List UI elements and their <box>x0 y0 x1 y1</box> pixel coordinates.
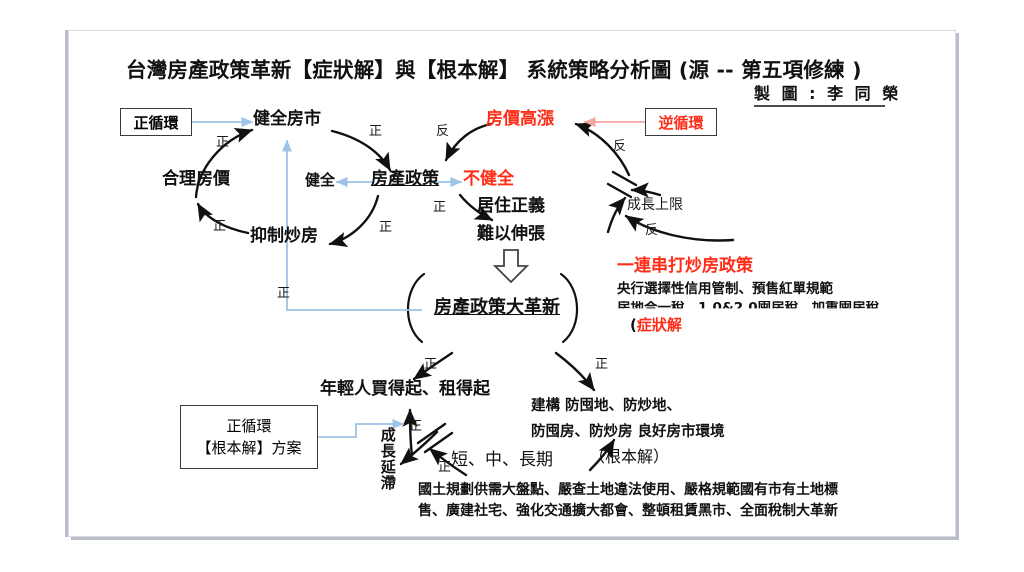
node-justice-line2: 難以伸張 <box>477 226 545 244</box>
credit-line: 製 圖 : 李 同 榮 <box>754 86 901 103</box>
box-fundamental-plan-line2: 【根本解】方案 <box>196 437 301 460</box>
box-positive-loop-label: 正循環 <box>133 112 178 133</box>
edge-label-fan-3: 反 <box>645 224 658 238</box>
build-block-line1: 建構 防囤地、防炒地、 <box>531 399 681 414</box>
node-price-surge: 房價高漲 <box>486 111 554 129</box>
edge-label-zheng-1: 正 <box>216 136 229 150</box>
box-reverse-loop-label: 逆循環 <box>658 112 703 133</box>
node-growth-limit: 成長上限 <box>627 198 683 213</box>
bottom-block-line2: 售、廣建社宅、強化交通擴大都會、整頓租賃黑市、全面稅制大革新 <box>418 504 838 519</box>
page-title: 台灣房產政策革新【症狀解】與【根本解】 系統策略分析圖 (源 -- 第五項修練 … <box>126 60 862 82</box>
edge-label-zheng-5: 正 <box>433 201 446 215</box>
box-fundamental-plan[interactable]: 正循環 【根本解】方案 <box>180 405 318 469</box>
box-positive-loop[interactable]: 正循環 <box>120 108 192 136</box>
edge-label-zheng-9: 正 <box>409 420 422 434</box>
node-healthy-market: 健全房市 <box>253 111 321 129</box>
edge-label-zheng-2: 正 <box>369 125 382 139</box>
node-justice-line1: 居住正義 <box>477 198 545 216</box>
node-growth-delay: 成長延滯 <box>379 427 395 491</box>
symptomatic-tag-label: 症狀解 <box>637 316 682 334</box>
box-reverse-loop[interactable]: 逆循環 <box>645 108 717 136</box>
node-reasonable-price: 合理房價 <box>162 171 230 189</box>
node-healthy: 健全 <box>305 173 335 189</box>
policy-block-line1: 央行選擇性信用管制、預售紅單規範 <box>617 282 833 296</box>
policy-block-heading: 一連串打炒房政策 <box>617 258 753 276</box>
build-block-line2: 防囤房、防炒房 良好房市環境 <box>531 425 725 440</box>
node-unhealthy: 不健全 <box>463 171 514 189</box>
node-youth-afford: 年輕人買得起、租得起 <box>320 381 490 399</box>
edge-label-fan-1: 反 <box>436 125 449 139</box>
bottom-block-line1: 國土規劃供需大盤點、嚴查土地違法使用、嚴格規範國有市有土地標 <box>418 483 838 498</box>
edge-label-fan-2: 反 <box>613 140 626 154</box>
box-fundamental-plan-line1: 正循環 <box>226 415 271 438</box>
edge-label-zheng-8: 正 <box>595 358 608 372</box>
fundamental-tag: （根本解） <box>589 449 669 466</box>
edge-label-zheng-7: 正 <box>424 358 437 372</box>
edge-label-zheng-3: 正 <box>379 221 392 235</box>
symptomatic-tag: (症狀解 <box>630 318 682 334</box>
node-curb-speculation: 抑制炒房 <box>250 228 318 246</box>
edge-label-zheng-4: 正 <box>213 220 226 234</box>
node-big-reform: 房產政策大革新 <box>434 299 560 318</box>
node-housing-policy: 房產政策 <box>371 171 439 189</box>
edge-label-zheng-6: 正 <box>277 287 290 301</box>
slide-canvas: 台灣房產政策革新【症狀解】與【根本解】 系統策略分析圖 (源 -- 第五項修練 … <box>0 0 1024 572</box>
edge-label-zheng-10: 正 <box>438 461 451 475</box>
node-term-range: 短、中、長期 <box>451 452 553 470</box>
